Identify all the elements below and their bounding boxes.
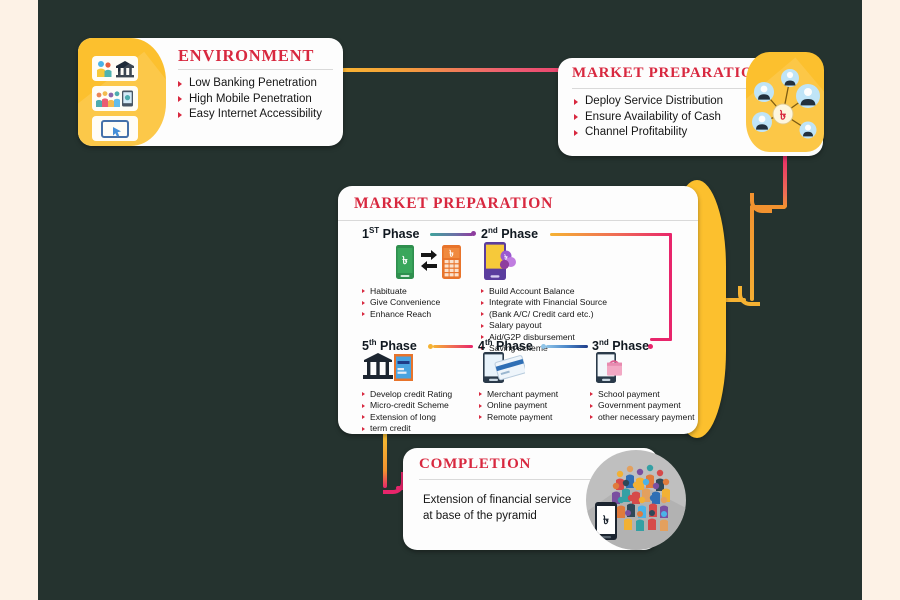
connector-phase5-to-phase4 xyxy=(433,345,473,348)
agent-network-icon: ৳ xyxy=(746,52,824,152)
list-item: High Mobile Penetration xyxy=(178,92,322,108)
click-screen-icon xyxy=(92,116,138,141)
connector-phase1-to-phase2 xyxy=(430,233,473,236)
list-item: Channel Profitability xyxy=(574,125,723,141)
list-item: Give Convenience xyxy=(362,297,474,308)
list-item: School payment xyxy=(590,389,702,400)
environment-bullet-list: Low Banking Penetration High Mobile Pene… xyxy=(178,76,322,123)
page-title-completion: COMPLETION xyxy=(419,456,531,473)
svg-text:৳: ৳ xyxy=(449,250,454,260)
list-item: Salary payout xyxy=(481,320,671,331)
svg-text:৳: ৳ xyxy=(780,109,787,124)
phase-word: Phase xyxy=(383,227,420,241)
list-item: Integrate with Financial Source xyxy=(481,297,671,308)
list-item: Deploy Service Distribution xyxy=(574,94,723,110)
two-phones-exchange-icon: ৳ ৳ xyxy=(396,244,462,285)
list-item: Micro-credit Scheme xyxy=(362,400,470,411)
list-item: Low Banking Penetration xyxy=(178,76,322,92)
completion-text: Extension of financial service at base o… xyxy=(423,492,571,524)
phase-ordinal: th xyxy=(369,338,377,347)
crowd-mobile-icon xyxy=(92,86,138,111)
phase-ordinal: nd xyxy=(599,338,609,347)
list-item: Online payment xyxy=(479,400,584,411)
people-bank-icon xyxy=(92,56,138,81)
svg-text:৳: ৳ xyxy=(603,513,609,527)
phase-label-3: 3nd Phase xyxy=(592,338,649,353)
phase-label-5: 5th Phase xyxy=(362,338,417,353)
page-title-market-preparation-top: MARKET PREPARATION xyxy=(572,65,765,82)
phone-bag-icon xyxy=(596,352,632,389)
infographic-stage: ENVIRONMENT Low Banking Penetration High… xyxy=(0,0,900,600)
page-title-market-preparation-main: MARKET PREPARATION xyxy=(354,195,553,213)
bank-credit-icon xyxy=(363,352,415,389)
list-item: Develop credit Rating xyxy=(362,389,470,400)
phase-label-1: 1ST Phase xyxy=(362,226,420,241)
svg-text:৳: ৳ xyxy=(402,254,408,267)
page-title-environment: ENVIRONMENT xyxy=(178,46,314,66)
list-item: Build Account Balance xyxy=(481,286,671,297)
phase-word: Phase xyxy=(501,227,538,241)
list-item: Remote payment xyxy=(479,412,584,423)
connector-dot xyxy=(471,231,476,236)
phase-4-item-list: Merchant payment Online payment Remote p… xyxy=(479,389,584,423)
phone-card-icon xyxy=(483,352,525,389)
list-item: Ensure Availability of Cash xyxy=(574,110,723,126)
list-item-continuation: (Bank A/C/ Credit card etc.) xyxy=(481,309,671,320)
list-item: Easy Internet Accessibility xyxy=(178,107,322,123)
phase-label-4: 4th Phase xyxy=(478,338,533,353)
environment-card[interactable]: ENVIRONMENT Low Banking Penetration High… xyxy=(78,38,343,146)
phase-label-2: 2nd Phase xyxy=(481,226,538,241)
svg-text:৳: ৳ xyxy=(504,254,508,262)
market-preparation-main-card[interactable]: MARKET PREPARATION 1ST Phase 2nd Phase xyxy=(338,186,698,434)
completion-text-line-2: at base of the pyramid xyxy=(423,508,571,524)
list-item: Government payment xyxy=(590,400,702,411)
completion-text-line-1: Extension of financial service xyxy=(423,492,571,508)
environment-icon-rail xyxy=(78,38,166,146)
list-item-continuation: other necessary payment xyxy=(590,412,702,423)
phase-5-item-list: Develop credit Rating Micro-credit Schem… xyxy=(362,389,470,435)
phase-ordinal: ST xyxy=(369,226,379,235)
list-item: Enhance Reach xyxy=(362,309,474,320)
phase-ordinal: th xyxy=(485,338,493,347)
phone-coins-icon: ৳ xyxy=(484,242,518,287)
list-item-continuation: term credit xyxy=(362,423,470,434)
phase-ordinal: nd xyxy=(488,226,498,235)
market-preparation-top-bullet-list: Deploy Service Distribution Ensure Avail… xyxy=(574,94,723,141)
phase-3-item-list: School payment Government payment other … xyxy=(590,389,702,423)
connector-dot xyxy=(648,344,653,349)
phase-1-item-list: Habituate Give Convenience Enhance Reach xyxy=(362,286,474,320)
list-item: Extension of long xyxy=(362,412,470,423)
list-item: Habituate xyxy=(362,286,474,297)
phase-number: 2 xyxy=(481,227,488,241)
crowd-with-phone-icon: ৳ xyxy=(586,450,686,550)
diagram-canvas: ENVIRONMENT Low Banking Penetration High… xyxy=(38,0,862,600)
phase-number: 1 xyxy=(362,227,369,241)
connector-phase4-to-phase3 xyxy=(546,345,588,348)
list-item: Merchant payment xyxy=(479,389,584,400)
